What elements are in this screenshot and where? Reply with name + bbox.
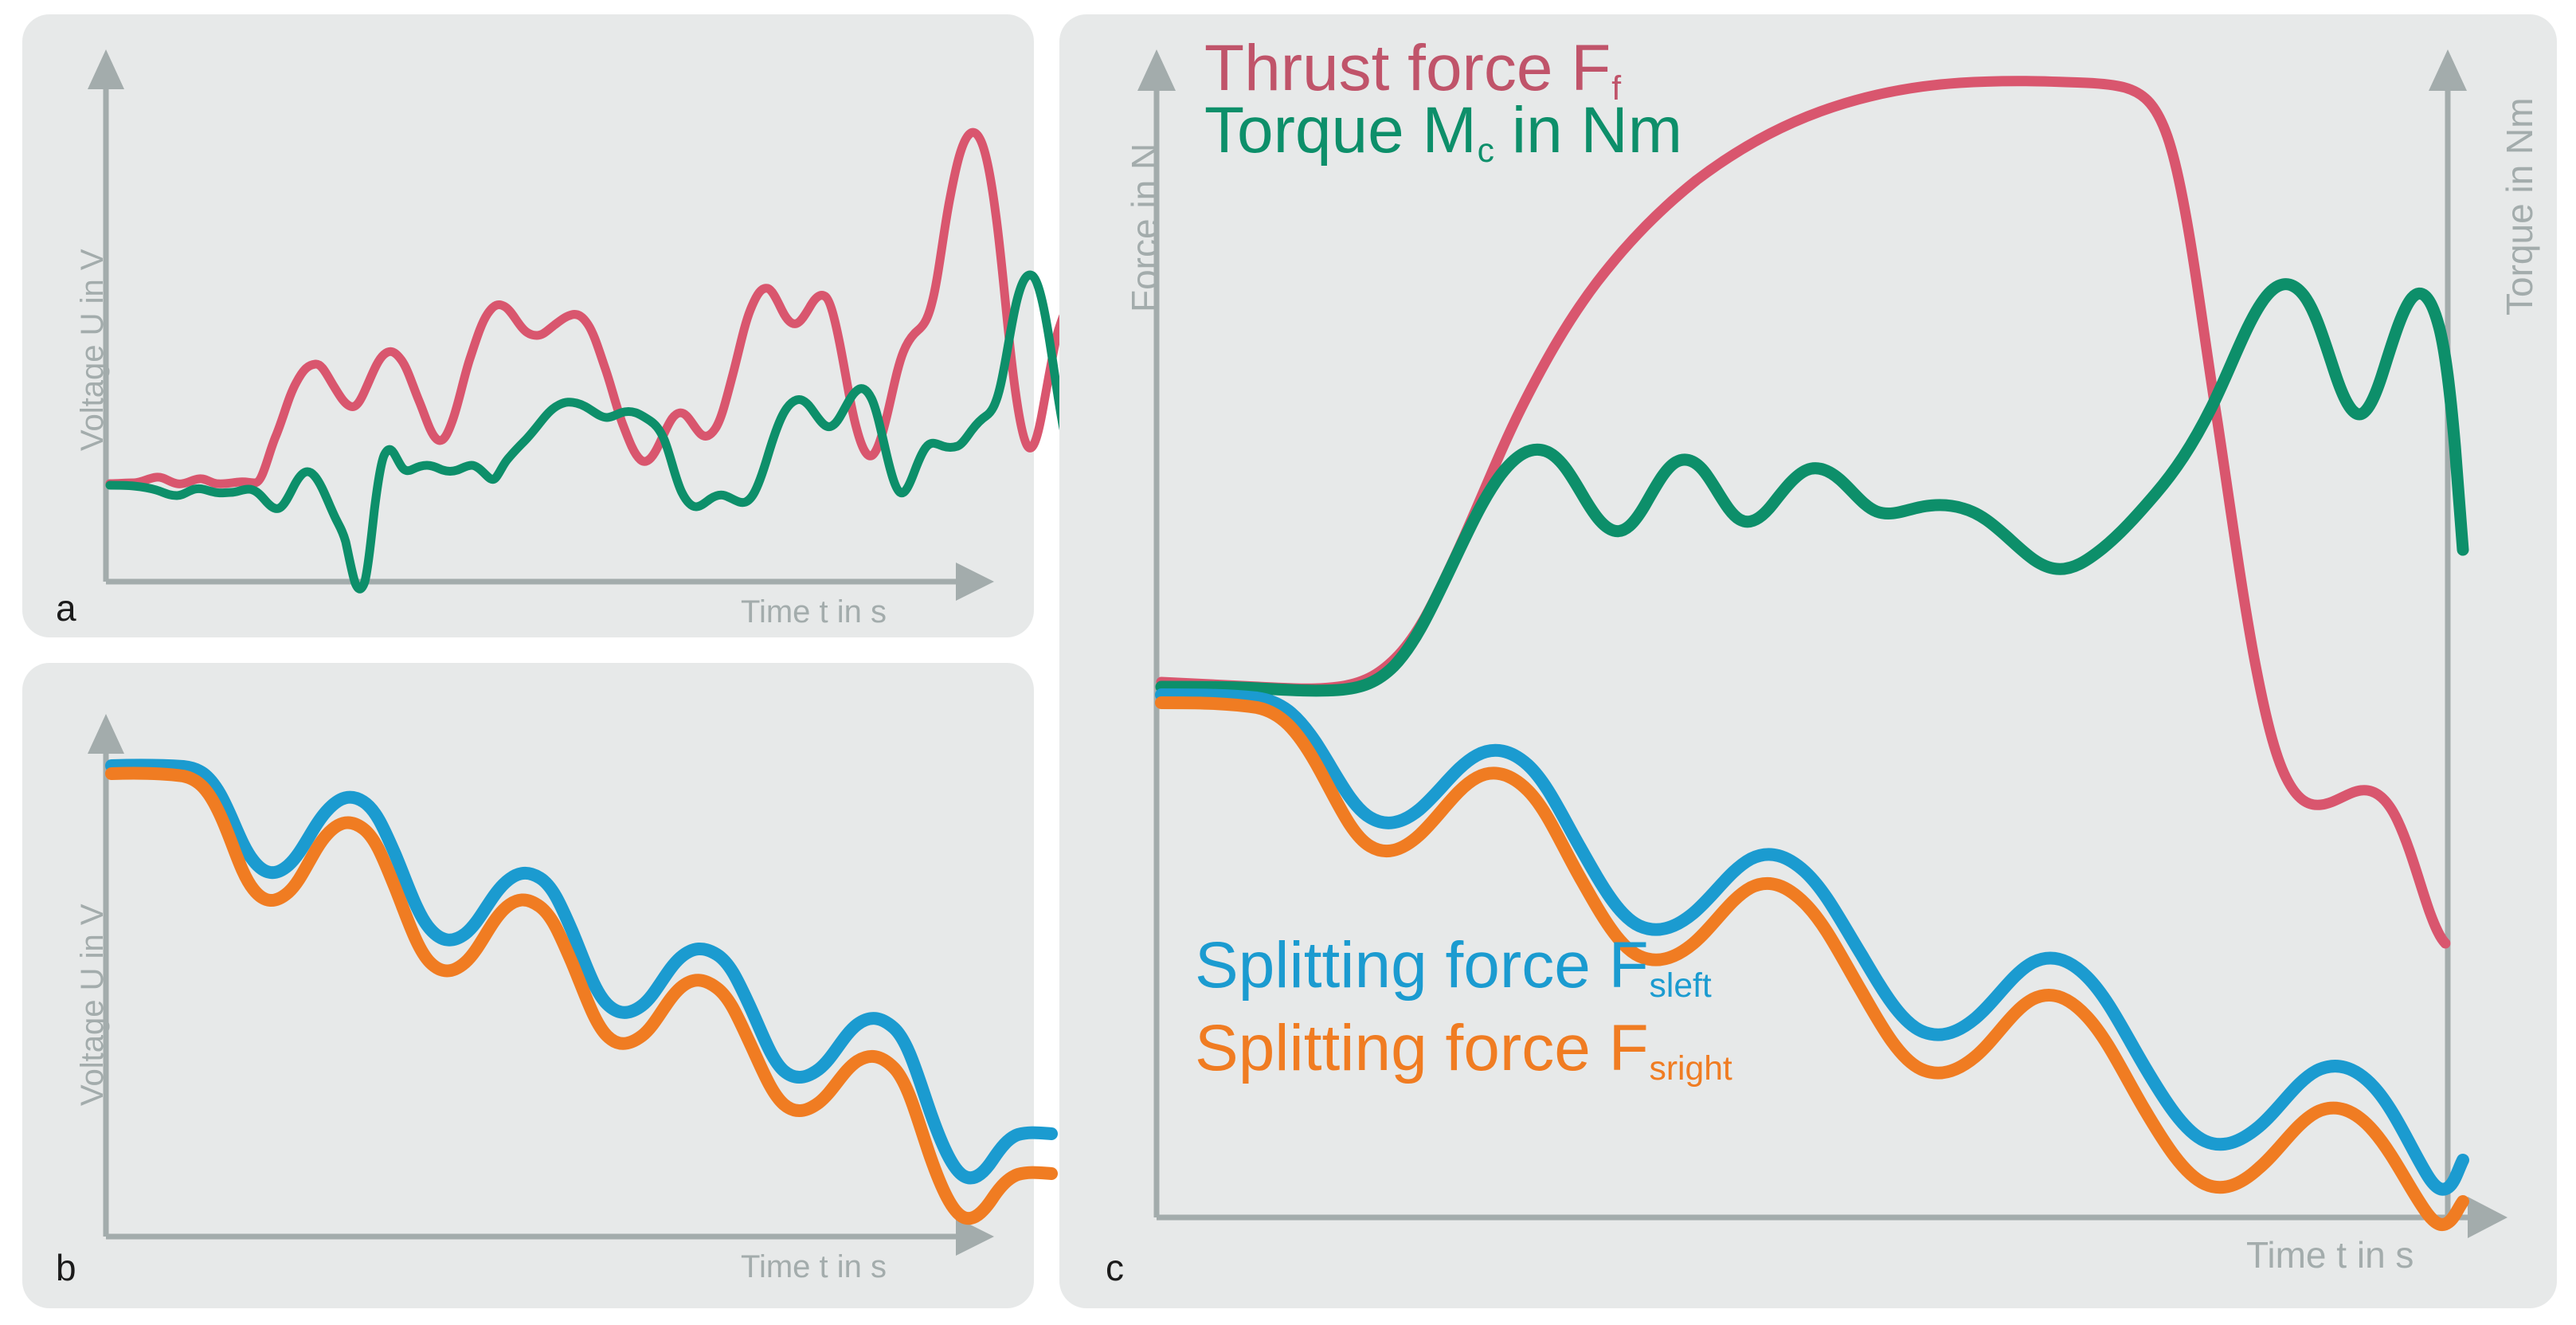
legend-splitting-force-left-label: Splitting force F	[1195, 929, 1649, 1002]
figure-root: Voltage U in V Time t in s a Voltage U i…	[0, 0, 2576, 1325]
panel-c-curve-thrust	[1161, 81, 2445, 943]
legend-splitting-force-right-subscript: sright	[1650, 1049, 1732, 1088]
legend-torque-subscript: c	[1478, 131, 1494, 170]
panel-c-right-y-axis	[2429, 49, 2467, 1217]
legend-torque-label: Torque M	[1204, 94, 1477, 167]
panel-c-letter: c	[1106, 1249, 1124, 1286]
panel-c-x-axis	[1157, 1197, 2507, 1238]
legend-splitting-force-left-subscript: sleft	[1650, 966, 1712, 1005]
panel-c-left-y-axis-label: Force in N	[1126, 143, 1163, 312]
panel-c-right-y-axis-label: Torque in Nm	[2501, 97, 2538, 316]
legend-splitting-force-right-label: Splitting force F	[1195, 1012, 1649, 1084]
legend-thrust-force: Thrust force Ff	[1204, 35, 1620, 102]
legend-splitting-force-right: Splitting force Fsright	[1195, 1015, 1732, 1082]
legend-torque-unit: in Nm	[1494, 94, 1682, 167]
panel-c-plot	[0, 0, 2576, 1325]
panel-c-x-axis-label: Time t in s	[2246, 1237, 2414, 1273]
legend-splitting-force-left: Splitting force Fsleft	[1195, 932, 1711, 999]
panel-c-curve-torque	[1161, 284, 2463, 691]
legend-torque: Torque Mc in Nm	[1204, 97, 1682, 164]
